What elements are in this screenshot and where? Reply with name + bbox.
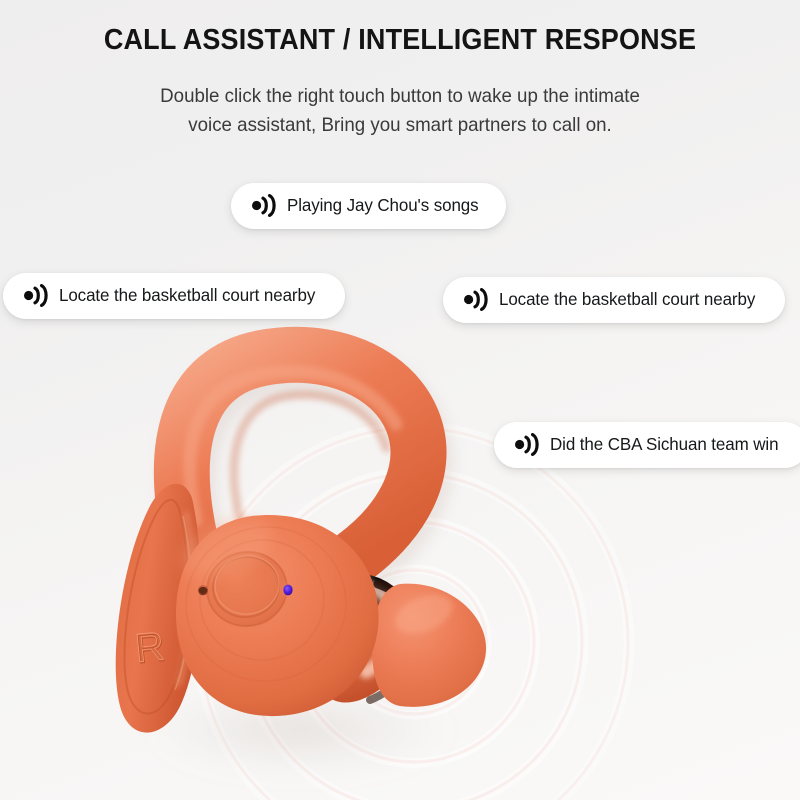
product-feature-slide: R R <box>0 0 800 800</box>
bubble-text: Locate the basketball court nearby <box>499 289 755 310</box>
page-subtitle: Double click the right touch button to w… <box>16 82 784 140</box>
page-title: CALL ASSISTANT / INTELLIGENT RESPONSE <box>28 24 772 57</box>
sound-wave-icon <box>23 284 50 307</box>
sound-wave-icon <box>463 288 490 311</box>
voice-command-bubble[interactable]: Locate the basketball court nearby <box>3 273 345 319</box>
voice-command-bubble[interactable]: Playing Jay Chou's songs <box>231 183 506 229</box>
voice-command-bubble[interactable]: Locate the basketball court nearby <box>443 277 785 323</box>
voice-command-bubble[interactable]: Did the CBA Sichuan team win <box>494 422 800 468</box>
sound-wave-icon <box>251 194 278 217</box>
bubble-text: Locate the basketball court nearby <box>59 285 315 306</box>
led-indicator <box>283 585 292 596</box>
svg-text:R: R <box>133 624 166 671</box>
bubble-text: Playing Jay Chou's songs <box>287 195 479 216</box>
subtitle-line-2: voice assistant, Bring you smart partner… <box>16 111 784 140</box>
subtitle-line-1: Double click the right touch button to w… <box>16 82 784 111</box>
bubble-text: Did the CBA Sichuan team win <box>550 434 778 455</box>
sound-wave-icon <box>514 433 541 456</box>
